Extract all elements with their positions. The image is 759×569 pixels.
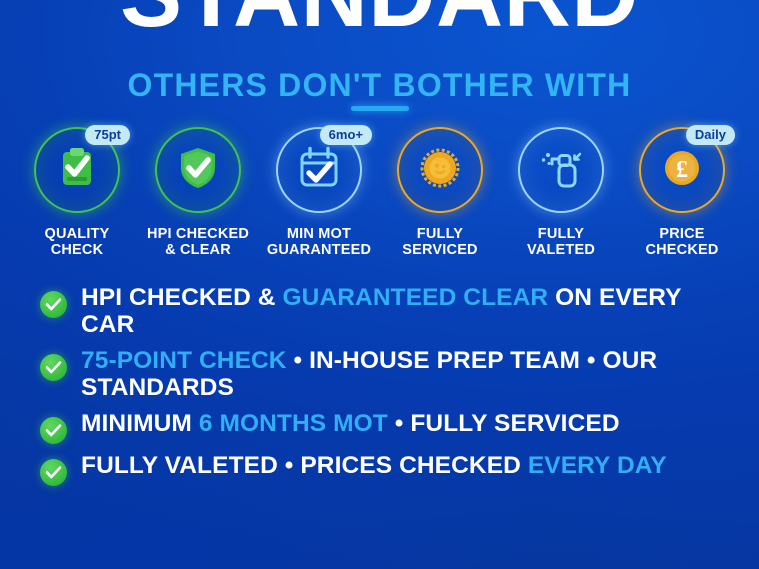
headline-container: STANDARD (0, 0, 759, 41)
feature-badge[interactable]: HPI CHECKED & CLEAR (138, 127, 259, 258)
feature-badge-row: 75ptQUALITY CHECK HPI CHECKED & CLEAR 6m… (0, 127, 759, 258)
feature-badge[interactable]: 6mo+MIN MOT GUARANTEED (259, 127, 380, 258)
badge-ring: £ Daily (639, 127, 725, 213)
plain-text: FULLY VALETED • PRICES CHECKED (81, 452, 528, 479)
highlight-text: GUARANTEED CLEAR (283, 284, 549, 311)
highlight-text: EVERY DAY (528, 452, 667, 479)
page-title: STANDARD (0, 0, 759, 41)
check-circle-icon (40, 459, 67, 486)
list-item-text: 75-POINT CHECK • IN-HOUSE PREP TEAM • OU… (81, 347, 730, 402)
list-item-text: FULLY VALETED • PRICES CHECKED EVERY DAY (81, 452, 667, 479)
list-item: 75-POINT CHECK • IN-HOUSE PREP TEAM • OU… (40, 347, 730, 402)
promo-banner: STANDARD OTHERS DON'T BOTHER WITH 75ptQU… (0, 0, 759, 569)
check-circle-icon (40, 417, 67, 444)
feature-bullet-list: HPI CHECKED & GUARANTEED CLEAR ON EVERY … (40, 284, 730, 494)
badge-ring (155, 127, 241, 213)
plain-text: MINIMUM (81, 410, 199, 437)
list-item: MINIMUM 6 MONTHS MOT • FULLY SERVICED (40, 410, 730, 444)
gear-sun-icon (417, 145, 463, 196)
badge-label: QUALITY CHECK (44, 226, 109, 258)
highlight-text: 75-POINT CHECK (81, 347, 287, 374)
badge-label: MIN MOT GUARANTEED (267, 226, 371, 258)
clipboard-check-icon (54, 145, 100, 196)
check-circle-icon (40, 291, 67, 318)
badge-label: HPI CHECKED & CLEAR (147, 226, 249, 258)
calendar-check-icon (296, 145, 342, 196)
title-divider (351, 106, 409, 111)
badge-pill: 6mo+ (320, 125, 372, 145)
feature-badge[interactable]: FULLY VALETED (501, 127, 622, 258)
badge-pill: 75pt (85, 125, 130, 145)
badge-label: FULLY SERVICED (402, 226, 477, 258)
list-item: FULLY VALETED • PRICES CHECKED EVERY DAY (40, 452, 730, 486)
check-circle-icon (40, 354, 67, 381)
badge-ring (397, 127, 483, 213)
plain-text: • FULLY SERVICED (388, 410, 620, 437)
badge-label: PRICE CHECKED (645, 226, 718, 258)
list-item-text: MINIMUM 6 MONTHS MOT • FULLY SERVICED (81, 410, 620, 437)
feature-badge[interactable]: FULLY SERVICED (380, 127, 501, 258)
pound-coin-icon: £ (659, 145, 705, 196)
spray-bottle-icon (538, 145, 584, 196)
shield-check-icon (175, 145, 221, 196)
badge-label: FULLY VALETED (527, 226, 595, 258)
plain-text: HPI CHECKED & (81, 284, 283, 311)
feature-badge[interactable]: £ DailyPRICE CHECKED (622, 127, 743, 258)
svg-text:£: £ (676, 157, 688, 183)
badge-ring: 6mo+ (276, 127, 362, 213)
page-subtitle: OTHERS DON'T BOTHER WITH (0, 67, 759, 104)
highlight-text: 6 MONTHS MOT (199, 410, 388, 437)
badge-pill: Daily (686, 125, 735, 145)
badge-ring: 75pt (34, 127, 120, 213)
list-item-text: HPI CHECKED & GUARANTEED CLEAR ON EVERY … (81, 284, 730, 339)
badge-ring (518, 127, 604, 213)
list-item: HPI CHECKED & GUARANTEED CLEAR ON EVERY … (40, 284, 730, 339)
feature-badge[interactable]: 75ptQUALITY CHECK (17, 127, 138, 258)
